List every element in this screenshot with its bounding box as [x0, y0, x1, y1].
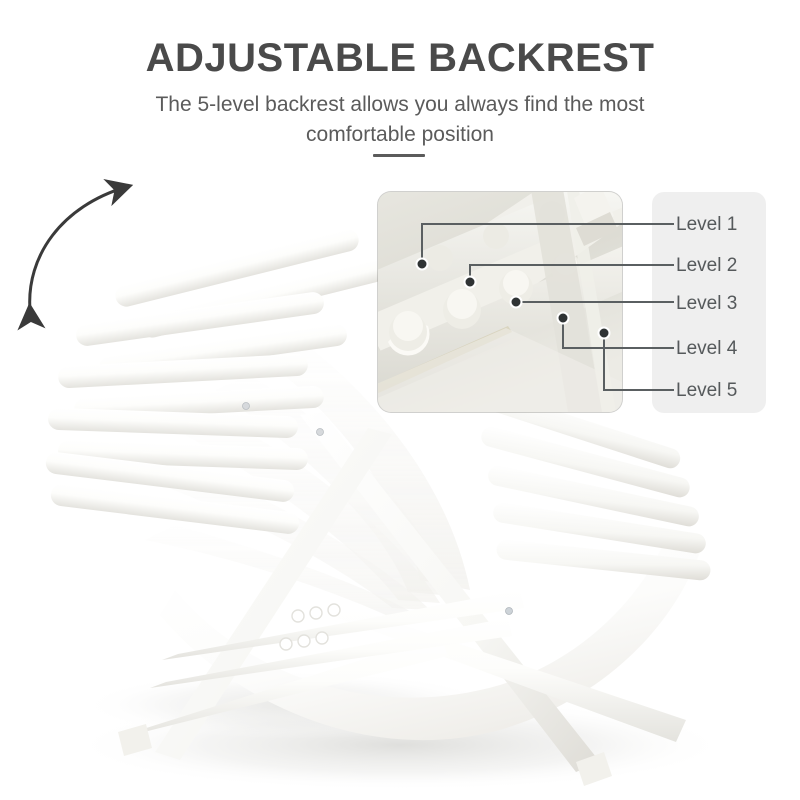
- title-divider: [373, 154, 425, 157]
- level-label-3: Level 3: [676, 294, 737, 313]
- rotation-arrow: [0, 160, 200, 360]
- level-label-5: Level 5: [676, 381, 737, 400]
- level-label-1: Level 1: [676, 215, 737, 234]
- page-title: ADJUSTABLE BACKREST: [0, 36, 800, 80]
- product-feature-page: ADJUSTABLE BACKREST The 5-level backrest…: [0, 0, 800, 800]
- page-subtitle: The 5-level backrest allows you always f…: [100, 90, 700, 151]
- backrest-notch-detail-photo: [378, 192, 622, 412]
- level-label-4: Level 4: [676, 339, 737, 358]
- level-callout: Level 1 Level 2 Level 3 Level 4 Level 5: [378, 192, 766, 414]
- level-label-2: Level 2: [676, 256, 737, 275]
